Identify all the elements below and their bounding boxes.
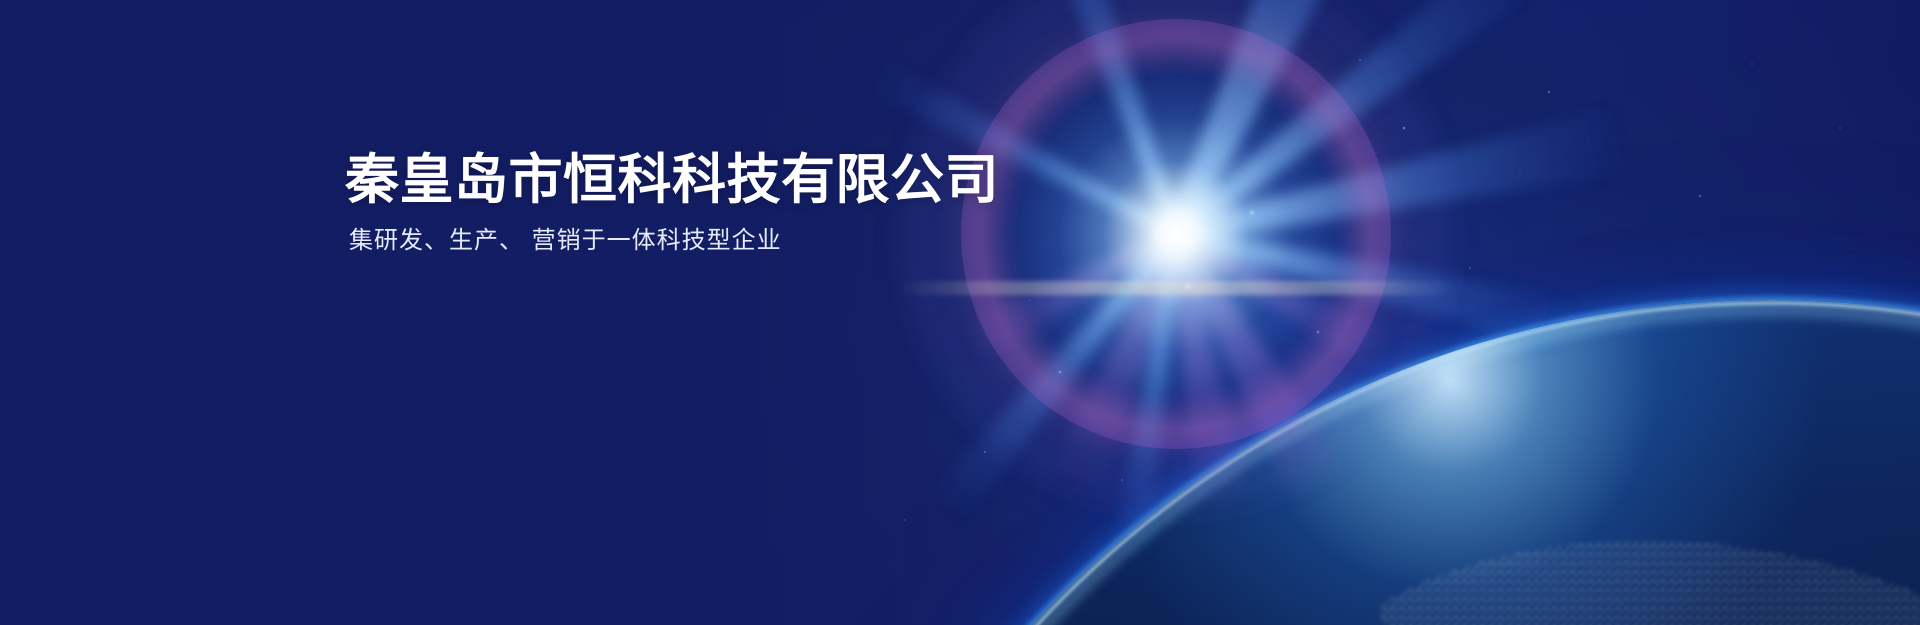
city-lights-icon (770, 300, 1920, 625)
hero-text-block: 秦皇岛市恒科科技有限公司 集研发、生产、 营销于一体科技型企业 (345, 150, 1245, 258)
page-title: 秦皇岛市恒科科技有限公司 (345, 150, 1245, 210)
earth-globe-icon (770, 300, 1920, 625)
globe-layer (0, 0, 1920, 625)
hero-banner: 秦皇岛市恒科科技有限公司 集研发、生产、 营销于一体科技型企业 (0, 0, 1920, 625)
page-subtitle: 集研发、生产、 营销于一体科技型企业 (349, 224, 1245, 258)
